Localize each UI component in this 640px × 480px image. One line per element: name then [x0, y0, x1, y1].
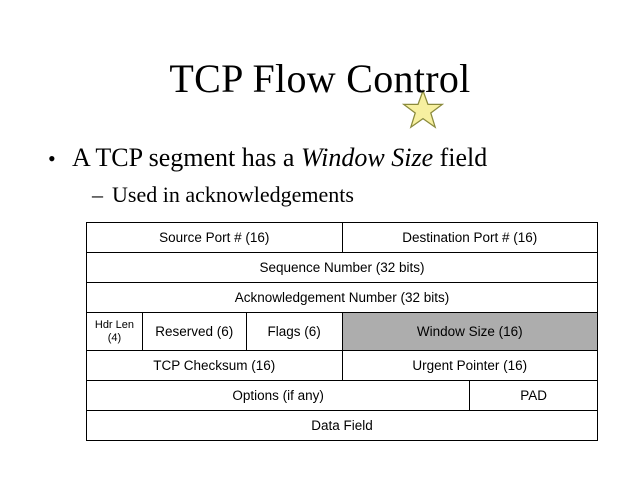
bullet-level1-text-before: A TCP segment has a	[72, 143, 301, 172]
slide-canvas: TCP Flow Control •A TCP segment has a Wi…	[0, 0, 640, 480]
bullet-level2: –Used in acknowledgements	[92, 181, 354, 209]
header-field-tcp-checksum-16: TCP Checksum (16)	[87, 351, 343, 381]
header-field-label-line1: Hdr Len	[87, 319, 142, 332]
table-row: Hdr Len(4)Reserved (6)Flags (6)Window Si…	[87, 313, 598, 351]
dash-marker-icon: –	[92, 181, 112, 209]
table-row: Sequence Number (32 bits)	[87, 253, 598, 283]
header-field-source-port-16: Source Port # (16)	[87, 223, 343, 253]
header-field-urgent-pointer-16: Urgent Pointer (16)	[342, 351, 598, 381]
bullet-level1: •A TCP segment has a Window Size field	[48, 142, 487, 175]
header-field-window-size-highlighted: Window Size (16)	[342, 313, 598, 351]
header-field-data-field: Data Field	[87, 411, 598, 441]
header-field-acknowledgement-number-32-bits: Acknowledgement Number (32 bits)	[87, 283, 598, 313]
bullet-level1-text-after: field	[433, 143, 487, 172]
header-field-hdr-len-4: Hdr Len(4)	[87, 313, 143, 351]
table-row: Source Port # (16)Destination Port # (16…	[87, 223, 598, 253]
header-field-destination-port-16: Destination Port # (16)	[342, 223, 598, 253]
bullet-marker-icon: •	[48, 143, 72, 175]
header-field-label-line2: (4)	[87, 332, 142, 345]
header-field-flags-6: Flags (6)	[246, 313, 342, 351]
bullet-level1-emphasis: Window Size	[301, 143, 433, 172]
tcp-header-table: Source Port # (16)Destination Port # (16…	[86, 222, 598, 441]
bullet-level2-text: Used in acknowledgements	[112, 182, 354, 207]
header-field-sequence-number-32-bits: Sequence Number (32 bits)	[87, 253, 598, 283]
table-row: Acknowledgement Number (32 bits)	[87, 283, 598, 313]
page-title: TCP Flow Control	[169, 56, 470, 102]
header-field-options-if-any: Options (if any)	[87, 381, 470, 411]
table-row: Options (if any)PAD	[87, 381, 598, 411]
table-row: TCP Checksum (16)Urgent Pointer (16)	[87, 351, 598, 381]
table-row: Data Field	[87, 411, 598, 441]
header-field-pad: PAD	[470, 381, 598, 411]
header-field-reserved-6: Reserved (6)	[142, 313, 246, 351]
title-area: TCP Flow Control	[0, 56, 640, 102]
